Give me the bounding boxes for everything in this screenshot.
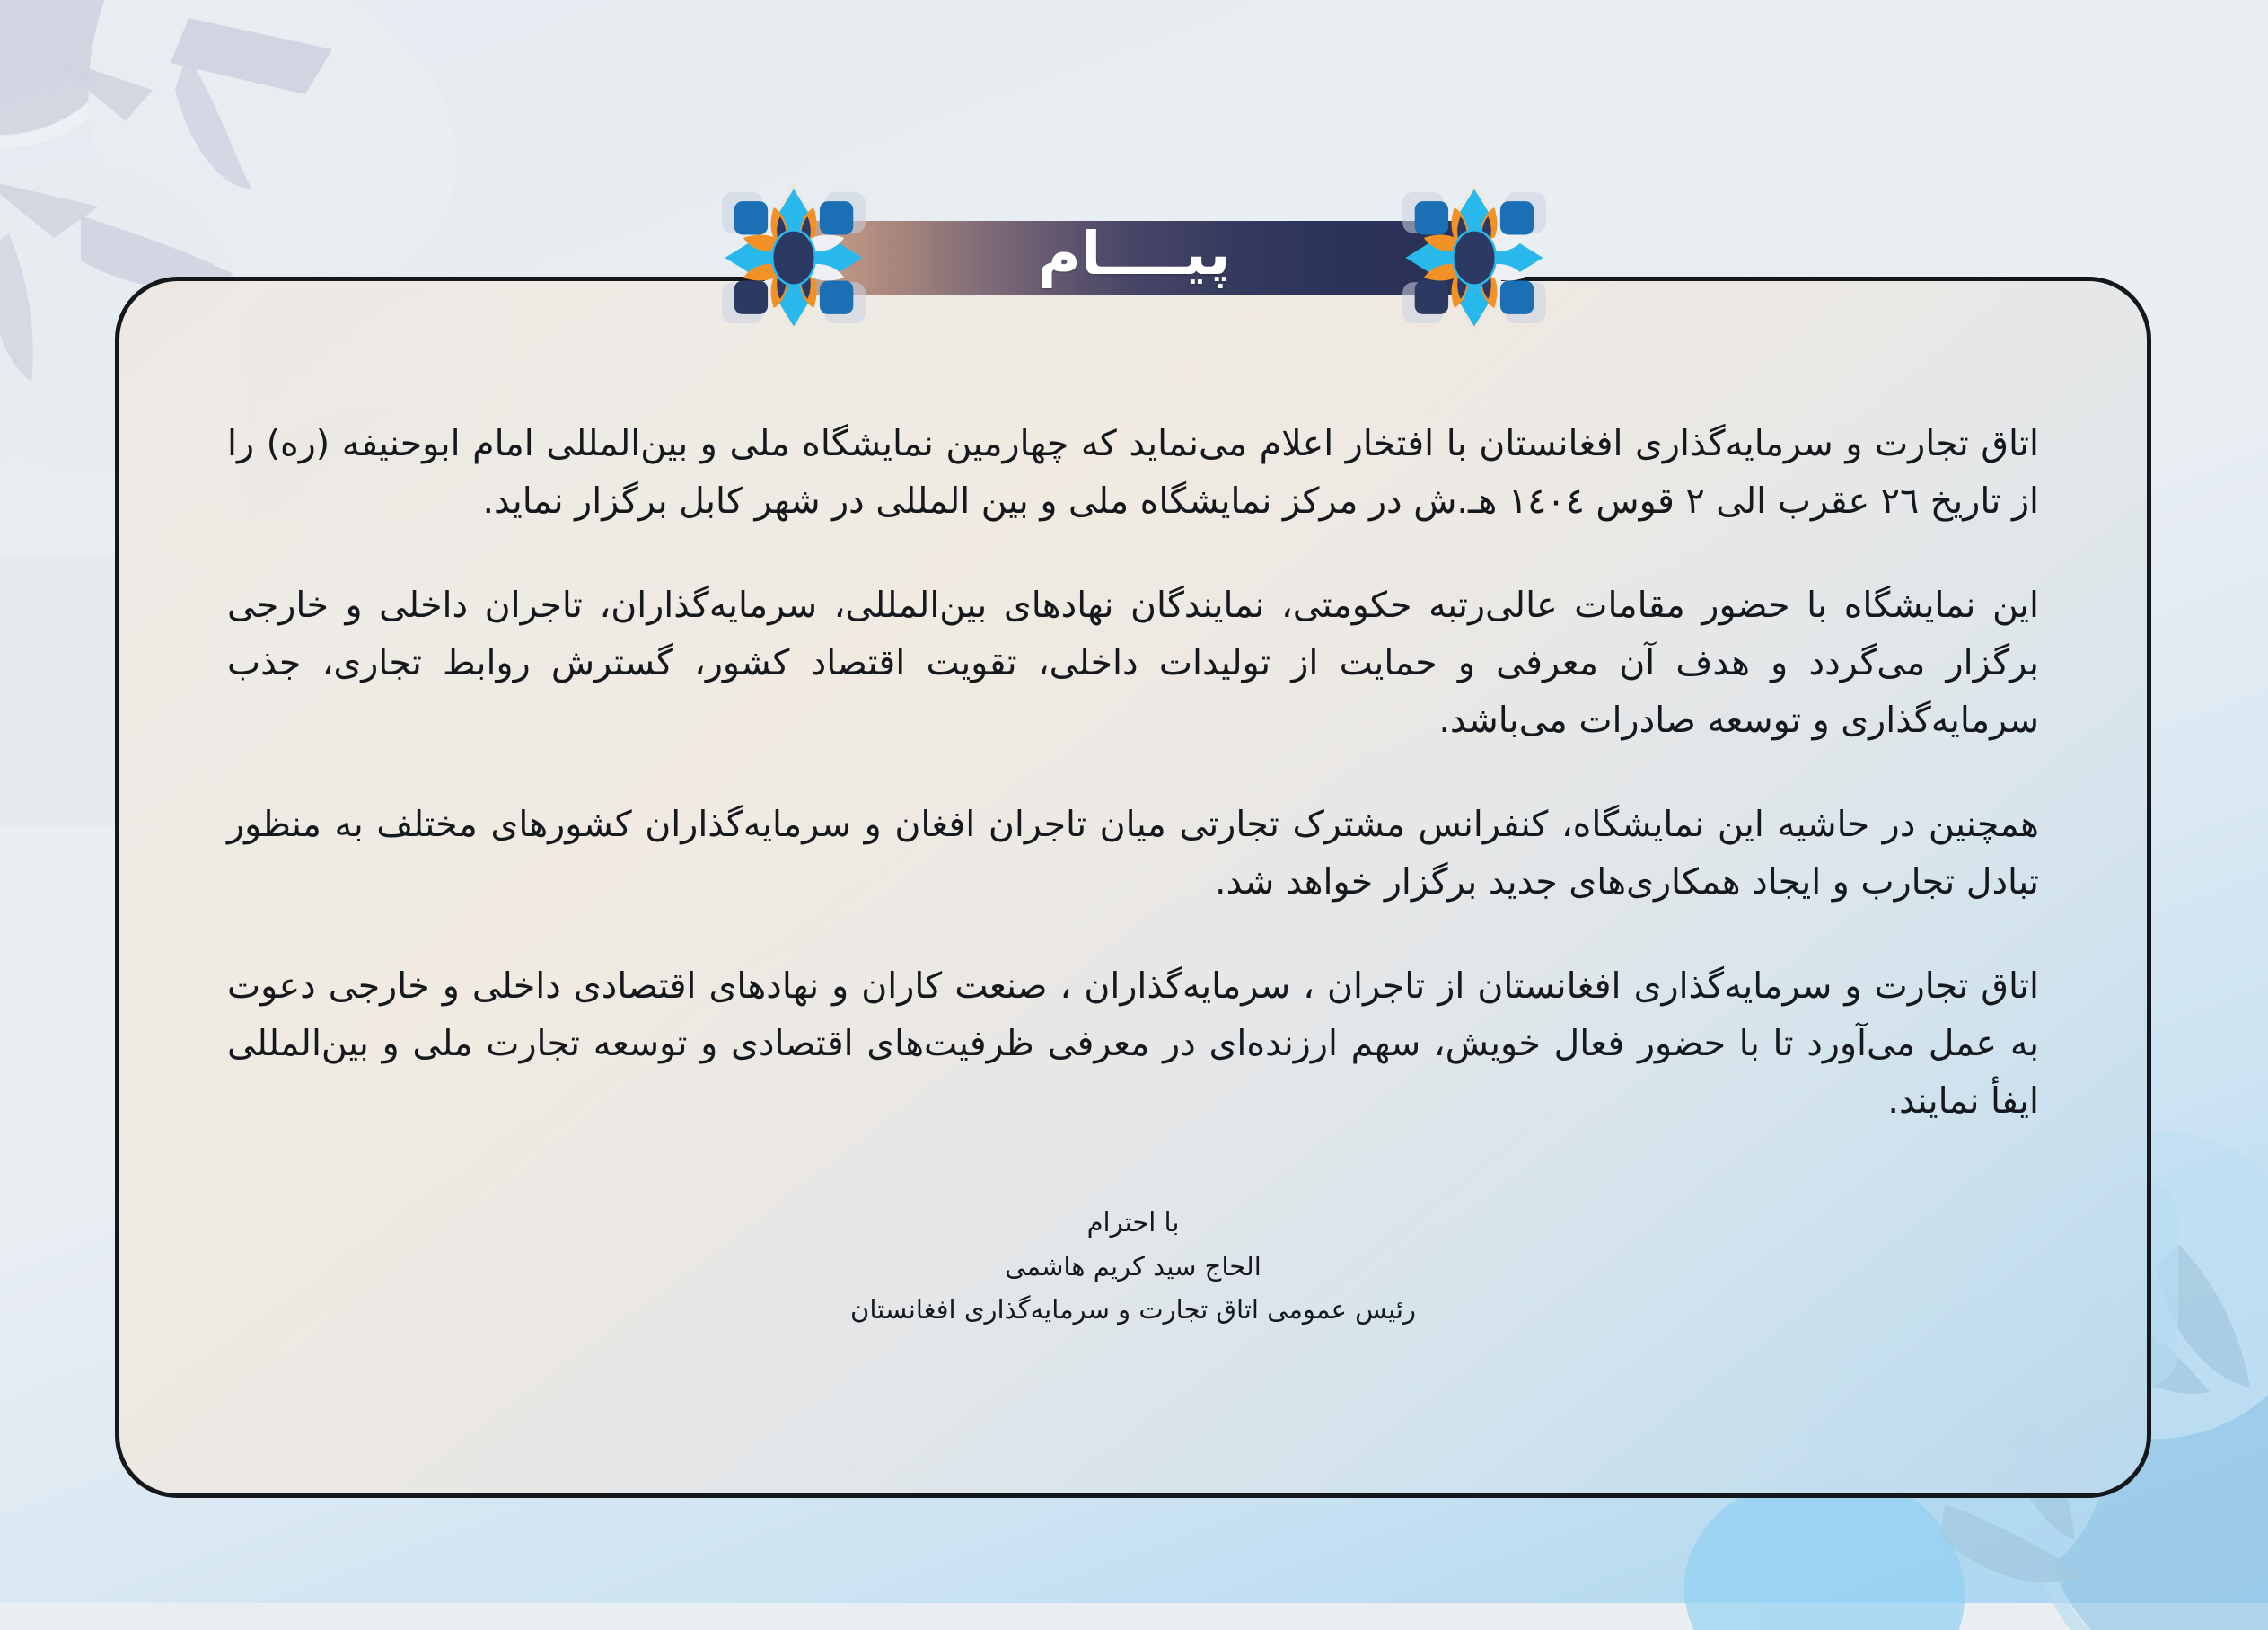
signature-closing: با احترام — [227, 1201, 2039, 1245]
signature-role: رئیس عمومی اتاق تجارت و سرمایه‌گذاری افغ… — [227, 1288, 2039, 1332]
ornament-medallion-right-icon — [1398, 181, 1551, 334]
paragraph-1: اتاق تجارت و سرمایه‌گذاری افغانستان با ا… — [227, 416, 2039, 531]
message-card: اتاق تجارت و سرمایه‌گذاری افغانستان با ا… — [115, 277, 2151, 1498]
paragraph-2: این نمایشگاه با حضور مقامات عالی‌رتبه حک… — [227, 577, 2039, 750]
signature-block: با احترام الحاج سید کریم هاشمی رئیس عموم… — [227, 1201, 2039, 1332]
paragraph-3: همچنین در حاشیه این نمایشگاه، کنفرانس مش… — [227, 797, 2039, 912]
paragraph-4: اتاق تجارت و سرمایه‌گذاری افغانستان از ت… — [227, 958, 2039, 1131]
ornament-medallion-left-icon — [717, 181, 870, 334]
banner-title: پیــــام — [1037, 225, 1230, 291]
title-banner: پیــــام — [721, 205, 1547, 311]
signature-name: الحاج سید کریم هاشمی — [227, 1245, 2039, 1289]
message-body: اتاق تجارت و سرمایه‌گذاری افغانستان با ا… — [227, 416, 2039, 1332]
